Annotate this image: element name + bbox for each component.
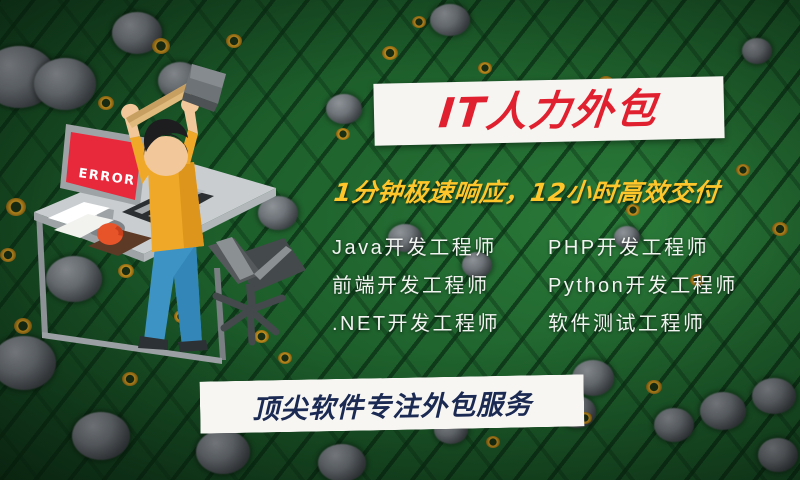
service-item: 前端开发工程师	[332, 269, 548, 298]
ribbon-slogan: 顶尖软件专注外包服务	[200, 374, 585, 433]
service-item: 软件测试工程师	[548, 307, 794, 336]
sledgehammer	[126, 64, 226, 128]
office-chair	[208, 237, 306, 342]
title-banner: IT人力外包	[373, 76, 724, 146]
service-item: Java开发工程师	[332, 231, 548, 260]
service-row: 前端开发工程师 Python开发工程师	[332, 264, 794, 302]
subtitle-tagline: 1分钟极速响应，12小时高效交付	[332, 174, 786, 208]
service-item: PHP开发工程师	[548, 231, 794, 260]
page-title: IT人力外包	[437, 88, 660, 134]
hero-illustration: ERROR	[18, 60, 318, 390]
service-row: Java开发工程师 PHP开发工程师	[332, 226, 794, 264]
poster-canvas: ERROR	[0, 0, 800, 480]
service-row: .NET开发工程师 软件测试工程师	[332, 302, 794, 340]
service-item: Python开发工程师	[548, 269, 794, 298]
bottom-ribbon-banner: 顶尖软件专注外包服务	[200, 374, 585, 433]
service-item: .NET开发工程师	[332, 307, 548, 336]
service-list: Java开发工程师 PHP开发工程师 前端开发工程师 Python开发工程师 .…	[332, 226, 794, 340]
